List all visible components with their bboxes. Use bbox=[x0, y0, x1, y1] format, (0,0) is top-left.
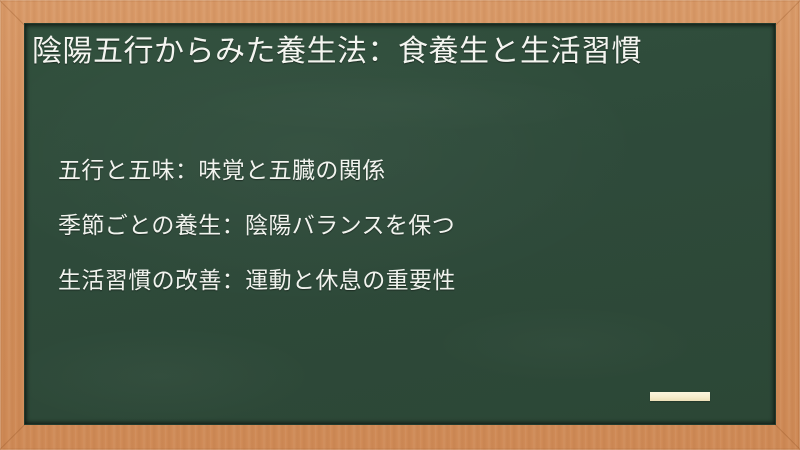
bullet-list: 五行と五味：味覚と五臓の関係 季節ごとの養生：陰陽バランスを保つ 生活習慣の改善… bbox=[58, 156, 751, 294]
board-content: 陰陽五行からみた養生法：食養生と生活習慣 五行と五味：味覚と五臓の関係 季節ごと… bbox=[25, 24, 775, 424]
chalk-stick-icon bbox=[650, 392, 710, 401]
slide-title: 陰陽五行からみた養生法：食養生と生活習慣 bbox=[32, 30, 747, 73]
chalkboard-surface: 陰陽五行からみた養生法：食養生と生活習慣 五行と五味：味覚と五臓の関係 季節ごと… bbox=[25, 24, 775, 424]
bullet-item-2: 季節ごとの養生：陰陽バランスを保つ bbox=[58, 211, 751, 239]
chalkboard-slide: 陰陽五行からみた養生法：食養生と生活習慣 五行と五味：味覚と五臓の関係 季節ごと… bbox=[0, 0, 800, 450]
bullet-item-1: 五行と五味：味覚と五臓の関係 bbox=[58, 156, 751, 184]
bullet-item-3: 生活習慣の改善：運動と休息の重要性 bbox=[58, 266, 751, 294]
